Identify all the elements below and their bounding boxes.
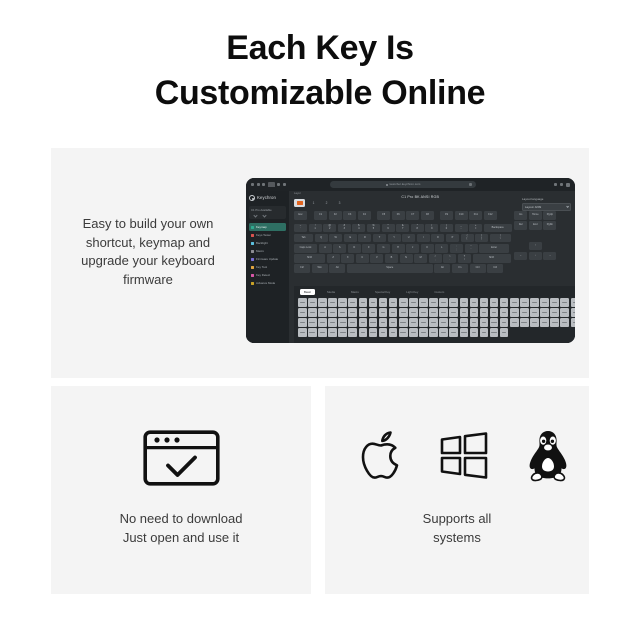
keycap[interactable]: @2 bbox=[323, 224, 336, 233]
palette-key[interactable] bbox=[369, 298, 378, 307]
sidebar-item-label: Keys Tester bbox=[256, 234, 271, 237]
palette-key[interactable] bbox=[429, 308, 438, 317]
palette-tab-media[interactable]: Media bbox=[323, 289, 339, 295]
palette-key[interactable] bbox=[409, 308, 418, 317]
palette-key[interactable] bbox=[490, 328, 499, 337]
palette-key[interactable] bbox=[429, 318, 438, 327]
layout-language-label: Layout language bbox=[522, 198, 571, 201]
palette-tab-custom[interactable]: Custom bbox=[430, 289, 448, 295]
keycap[interactable]: J bbox=[406, 244, 419, 253]
keycap[interactable]: G bbox=[377, 244, 390, 253]
keycap[interactable]: ^6 bbox=[382, 224, 395, 233]
palette-key[interactable] bbox=[500, 308, 509, 317]
sidebar-item-label: Advance Mode bbox=[256, 282, 275, 285]
palette-key[interactable] bbox=[298, 328, 307, 337]
browser-chrome: launcher.keychron.com bbox=[246, 178, 575, 191]
launcher-app: Keychron C1 Pro Available KeymapKeys Tes… bbox=[246, 191, 575, 343]
palette-key[interactable] bbox=[480, 298, 489, 307]
feature-caption-all-systems: Supports all systems bbox=[325, 509, 589, 547]
sidebar-item-key-detect[interactable]: Key Detect bbox=[249, 271, 286, 279]
keycap[interactable]: <, bbox=[429, 254, 442, 263]
browser-toolbar-right[interactable] bbox=[554, 183, 570, 187]
back-arrow-icon[interactable] bbox=[251, 183, 254, 186]
sidebar-item-label: Backlight bbox=[256, 242, 268, 245]
keycap[interactable]: F6 bbox=[392, 211, 405, 220]
sidebar-item-icon bbox=[251, 226, 254, 229]
layer-active-indicator bbox=[297, 201, 303, 205]
palette-key[interactable] bbox=[470, 318, 479, 327]
sidebar-item-label: Macro bbox=[256, 250, 264, 253]
palette-key[interactable] bbox=[298, 308, 307, 317]
palette-key[interactable] bbox=[399, 308, 408, 317]
tab-icon[interactable] bbox=[268, 182, 275, 187]
palette-key[interactable] bbox=[449, 308, 458, 317]
palette-key[interactable] bbox=[550, 308, 559, 317]
palette-key[interactable] bbox=[379, 328, 388, 337]
sidebar-item-label: Key Detect bbox=[256, 274, 270, 277]
sidebar-item-label: Key Tool bbox=[256, 266, 267, 269]
keycap[interactable]: #3 bbox=[338, 224, 351, 233]
palette-key[interactable] bbox=[429, 328, 438, 337]
keycap[interactable]: Fn bbox=[452, 264, 468, 273]
palette-key[interactable] bbox=[359, 318, 368, 327]
keycap-legend: "' bbox=[471, 246, 472, 252]
keycap[interactable]: O bbox=[431, 234, 444, 243]
keycap[interactable]: T bbox=[373, 234, 386, 243]
keyboard-row: TabQWERTYUIOP{[}]|\ bbox=[294, 234, 512, 243]
palette-key[interactable] bbox=[530, 318, 539, 327]
keycap[interactable]: Esc bbox=[294, 211, 307, 220]
sidebar-item-icon bbox=[251, 274, 254, 277]
sidebar-item-icon bbox=[251, 282, 254, 285]
device-nav-arrows[interactable] bbox=[251, 214, 284, 217]
sidebar-item-macro[interactable]: Macro bbox=[249, 247, 286, 255]
keyboard-row: ~`!1@2#3$4%5^6&7*8(9)0_-+=Backspace bbox=[294, 224, 512, 233]
palette-key[interactable] bbox=[540, 318, 549, 327]
keycap[interactable]: S bbox=[333, 244, 346, 253]
sidebar-nav: KeymapKeys TesterBacklightMacroFirmware … bbox=[249, 223, 286, 287]
palette-tab-basic[interactable]: Basic bbox=[300, 289, 315, 295]
sidebar-item-label: Keymap bbox=[256, 226, 267, 229]
palette-key[interactable] bbox=[348, 298, 357, 307]
keycap[interactable]: X bbox=[341, 254, 354, 263]
keycap[interactable]: F8 bbox=[421, 211, 434, 220]
palette-key[interactable] bbox=[439, 298, 448, 307]
palette-key[interactable] bbox=[318, 328, 327, 337]
keycap[interactable]: D bbox=[348, 244, 361, 253]
keyboard-row: EscF1F2F3F4F5F6F7F8F9F10F11F12 bbox=[294, 211, 512, 220]
keycap[interactable]: |\ bbox=[490, 234, 511, 243]
keycap[interactable]: E bbox=[344, 234, 357, 243]
os-logos-row bbox=[365, 430, 565, 486]
palette-key[interactable] bbox=[439, 308, 448, 317]
keycap-legend: ?/ bbox=[464, 256, 465, 262]
keycap[interactable]: H bbox=[392, 244, 405, 253]
layer-2-button[interactable]: 2 bbox=[322, 202, 331, 205]
palette-key[interactable] bbox=[318, 298, 327, 307]
palette-key[interactable] bbox=[318, 318, 327, 327]
layer-0-button[interactable] bbox=[294, 199, 305, 207]
palette-key[interactable] bbox=[379, 318, 388, 327]
palette-key[interactable] bbox=[449, 328, 458, 337]
palette-key[interactable] bbox=[520, 298, 529, 307]
palette-key[interactable] bbox=[490, 298, 499, 307]
keycap[interactable]: W bbox=[329, 234, 342, 243]
keycap-legend: &7 bbox=[402, 225, 404, 231]
keycap-legend: ~` bbox=[300, 225, 301, 231]
sidebar-item-icon bbox=[251, 250, 254, 253]
keycap[interactable]: F10 bbox=[455, 211, 468, 220]
layer-label: Layer bbox=[294, 193, 301, 196]
address-bar[interactable]: launcher.keychron.com bbox=[330, 181, 476, 188]
keycap-legend: <, bbox=[435, 256, 436, 262]
palette-key[interactable] bbox=[490, 308, 499, 317]
page-title-line-1: Each Key Is bbox=[226, 29, 414, 67]
keyboard-row: Caps LockASDFGHJKL:;"'Enter bbox=[294, 244, 512, 253]
browser-nav-controls[interactable] bbox=[251, 182, 286, 187]
sidebar-item-key-tool[interactable]: Key Tool bbox=[249, 263, 286, 271]
keycap-legend: #3 bbox=[344, 225, 345, 231]
palette-key[interactable] bbox=[389, 308, 398, 317]
keyboard-spacer bbox=[373, 211, 376, 220]
palette-key[interactable] bbox=[480, 308, 489, 317]
palette-key[interactable] bbox=[338, 328, 347, 337]
palette-key[interactable] bbox=[560, 298, 569, 307]
keycap[interactable]: &7 bbox=[396, 224, 409, 233]
palette-key[interactable] bbox=[348, 328, 357, 337]
page-title-line-2: Customizable Online bbox=[0, 71, 640, 116]
palette-key[interactable] bbox=[490, 318, 499, 327]
forward-arrow-icon[interactable] bbox=[257, 183, 260, 186]
new-tab-icon[interactable] bbox=[277, 183, 280, 186]
keycap[interactable]: F1 bbox=[314, 211, 327, 220]
keyboard-row: CtrlWinAltSpaceAltFnCtrlCtrl bbox=[294, 264, 512, 273]
palette-key[interactable] bbox=[449, 318, 458, 327]
keycap[interactable]: F12 bbox=[484, 211, 497, 220]
palette-key[interactable] bbox=[540, 308, 549, 317]
palette-key[interactable] bbox=[338, 318, 347, 327]
palette-key[interactable] bbox=[460, 308, 469, 317]
palette-key[interactable] bbox=[399, 298, 408, 307]
palette-key-grid[interactable] bbox=[298, 298, 571, 337]
page-title: Each Key Is Customizable Online bbox=[0, 26, 640, 116]
palette-key[interactable] bbox=[328, 318, 337, 327]
palette-key[interactable] bbox=[460, 318, 469, 327]
palette-key[interactable] bbox=[389, 318, 398, 327]
palette-key[interactable] bbox=[399, 318, 408, 327]
palette-key[interactable] bbox=[359, 308, 368, 317]
keycap-legend: _- bbox=[460, 225, 461, 231]
palette-key[interactable] bbox=[520, 318, 529, 327]
keycap[interactable]: $4 bbox=[352, 224, 365, 233]
keycap[interactable]: F5 bbox=[377, 211, 390, 220]
palette-row bbox=[298, 298, 571, 307]
keycap[interactable]: F3 bbox=[343, 211, 356, 220]
palette-key[interactable] bbox=[359, 298, 368, 307]
palette-key[interactable] bbox=[470, 308, 479, 317]
keycap[interactable]: *8 bbox=[411, 224, 424, 233]
palette-key[interactable] bbox=[480, 328, 489, 337]
palette-tab-macro[interactable]: Macro bbox=[347, 289, 363, 295]
palette-key[interactable] bbox=[328, 298, 337, 307]
palette-row bbox=[298, 328, 571, 337]
palette-row bbox=[298, 318, 571, 327]
keycap[interactable]: F2 bbox=[329, 211, 342, 220]
device-name: C1 Pro Available bbox=[251, 209, 284, 212]
reload-icon[interactable] bbox=[262, 183, 265, 186]
bookmark-star-icon[interactable] bbox=[469, 183, 472, 186]
palette-key[interactable] bbox=[409, 328, 418, 337]
keycap[interactable]: Ctrl bbox=[487, 264, 503, 273]
sidebar-item-icon bbox=[251, 234, 254, 237]
keycap[interactable]: ~` bbox=[294, 224, 307, 233]
keycap[interactable]: !1 bbox=[309, 224, 322, 233]
keychron-logo-icon bbox=[249, 195, 255, 201]
keycap[interactable]: += bbox=[469, 224, 482, 233]
chevron-down-icon bbox=[566, 205, 569, 208]
keycap[interactable]: Space bbox=[347, 264, 433, 273]
palette-row bbox=[298, 308, 571, 317]
palette-key[interactable] bbox=[419, 318, 428, 327]
keycap[interactable]: Win bbox=[312, 264, 328, 273]
apple-logo-icon bbox=[359, 430, 403, 487]
palette-key[interactable] bbox=[389, 298, 398, 307]
chevron-right-icon[interactable] bbox=[262, 213, 266, 217]
layer-3-button[interactable]: 3 bbox=[335, 202, 344, 205]
keycap-legend: )0 bbox=[446, 225, 447, 231]
palette-key[interactable] bbox=[460, 328, 469, 337]
palette-key[interactable] bbox=[328, 308, 337, 317]
keycap[interactable]: Enter bbox=[479, 244, 509, 253]
palette-key[interactable] bbox=[338, 298, 347, 307]
palette-key[interactable] bbox=[500, 318, 509, 327]
palette-key[interactable] bbox=[379, 298, 388, 307]
keycap[interactable]: F9 bbox=[440, 211, 453, 220]
sidebar-item-icon bbox=[251, 266, 254, 269]
keycap[interactable]: Ctrl bbox=[470, 264, 486, 273]
keyboard-spacer bbox=[309, 211, 313, 220]
palette-key[interactable] bbox=[500, 328, 509, 337]
sidebar-item-firmware-update[interactable]: Firmware Update bbox=[249, 255, 286, 263]
linux-penguin-icon bbox=[525, 429, 571, 488]
keycap-legend: !1 bbox=[314, 225, 315, 231]
chevron-left-icon[interactable] bbox=[253, 213, 257, 217]
keycap[interactable]: )0 bbox=[440, 224, 453, 233]
palette-key[interactable] bbox=[379, 308, 388, 317]
keycap[interactable]: A bbox=[319, 244, 332, 253]
palette-tabs[interactable]: BasicMediaMacroSpecial KeyLight KeyCusto… bbox=[298, 289, 571, 295]
palette-key[interactable] bbox=[348, 318, 357, 327]
keycap[interactable]: F7 bbox=[406, 211, 419, 220]
windows-logo-icon bbox=[439, 432, 489, 485]
palette-key[interactable] bbox=[399, 328, 408, 337]
keycap[interactable]: I bbox=[417, 234, 430, 243]
palette-key[interactable] bbox=[571, 298, 575, 307]
keycap[interactable]: N bbox=[400, 254, 413, 263]
keycap-legend: += bbox=[475, 225, 476, 231]
palette-key[interactable] bbox=[419, 298, 428, 307]
palette-key[interactable] bbox=[369, 328, 378, 337]
keycap[interactable]: K bbox=[421, 244, 434, 253]
sidebar-item-label: Firmware Update bbox=[256, 258, 278, 261]
keycap[interactable]: F4 bbox=[358, 211, 371, 220]
palette-key[interactable] bbox=[530, 298, 539, 307]
palette-key[interactable] bbox=[510, 318, 519, 327]
sidebar-item-icon bbox=[251, 242, 254, 245]
palette-key[interactable] bbox=[308, 328, 317, 337]
keycap-legend: >. bbox=[449, 256, 450, 262]
palette-key[interactable] bbox=[520, 308, 529, 317]
keycap[interactable]: }] bbox=[475, 234, 488, 243]
keycap[interactable]: B bbox=[385, 254, 398, 263]
keycap[interactable]: F bbox=[362, 244, 375, 253]
palette-key[interactable] bbox=[560, 308, 569, 317]
keycap[interactable]: Z bbox=[327, 254, 340, 263]
keycap-legend: (9 bbox=[431, 225, 432, 231]
keycap[interactable]: _- bbox=[455, 224, 468, 233]
keycap[interactable]: C bbox=[356, 254, 369, 263]
keycap[interactable]: Ctrl bbox=[294, 264, 310, 273]
palette-key[interactable] bbox=[409, 318, 418, 327]
palette-key[interactable] bbox=[308, 318, 317, 327]
layer-1-button[interactable]: 1 bbox=[309, 202, 318, 205]
palette-key[interactable] bbox=[389, 328, 398, 337]
keyboard-main-block[interactable]: EscF1F2F3F4F5F6F7F8F9F10F11F12~`!1@2#3$4… bbox=[294, 211, 512, 273]
keycap[interactable]: U bbox=[402, 234, 415, 243]
feature-card-all-systems bbox=[325, 386, 589, 594]
key-palette: BasicMediaMacroSpecial KeyLight KeyCusto… bbox=[294, 286, 575, 343]
layout-language-select[interactable]: Layout: ANSI bbox=[522, 203, 571, 211]
palette-key[interactable] bbox=[530, 308, 539, 317]
browser-mockup: launcher.keychron.com Keychron C1 Pro Av… bbox=[246, 178, 575, 343]
layout-language-value: Layout: ANSI bbox=[525, 205, 541, 209]
keyboard-model-title: C1 Pro BK ANSI RGB bbox=[401, 196, 439, 200]
promo-page: Each Key Is Customizable Online Easy to … bbox=[0, 0, 640, 640]
keyboard-visual[interactable]: EscF1F2F3F4F5F6F7F8F9F10F11F12~`!1@2#3$4… bbox=[294, 211, 515, 273]
palette-key[interactable] bbox=[571, 318, 575, 327]
palette-key[interactable] bbox=[510, 298, 519, 307]
keycap[interactable]: R bbox=[358, 234, 371, 243]
keycap-legend: %5 bbox=[372, 225, 374, 231]
app-sidebar: Keychron C1 Pro Available KeymapKeys Tes… bbox=[246, 191, 289, 343]
palette-key[interactable] bbox=[571, 308, 575, 317]
keycap[interactable]: V bbox=[370, 254, 383, 263]
brand-name: Keychron bbox=[257, 196, 276, 200]
palette-key[interactable] bbox=[359, 328, 368, 337]
palette-key[interactable] bbox=[308, 298, 317, 307]
keycap[interactable]: P bbox=[446, 234, 459, 243]
palette-key[interactable] bbox=[480, 318, 489, 327]
palette-key[interactable] bbox=[419, 328, 428, 337]
palette-key[interactable] bbox=[308, 308, 317, 317]
keycap-legend: *8 bbox=[417, 225, 418, 231]
keycap[interactable]: ?/ bbox=[458, 254, 471, 263]
keycap[interactable]: Alt bbox=[434, 264, 450, 273]
keycap[interactable]: {[ bbox=[461, 234, 474, 243]
palette-tab-special-key[interactable]: Special Key bbox=[371, 289, 394, 295]
palette-key[interactable] bbox=[439, 318, 448, 327]
palette-key[interactable] bbox=[298, 298, 307, 307]
palette-key[interactable] bbox=[500, 298, 509, 307]
browser-window-check-icon bbox=[143, 430, 220, 491]
keycap[interactable]: Shift bbox=[473, 254, 511, 263]
profile-icon[interactable] bbox=[566, 183, 570, 187]
keycap[interactable]: %5 bbox=[367, 224, 380, 233]
palette-tab-light-key[interactable]: Light Key bbox=[402, 289, 422, 295]
lock-icon bbox=[386, 184, 388, 186]
keycap[interactable]: Caps Lock bbox=[294, 244, 317, 253]
palette-key[interactable] bbox=[510, 308, 519, 317]
keycap-legend: |\ bbox=[500, 235, 501, 241]
palette-key[interactable] bbox=[449, 298, 458, 307]
device-selector[interactable]: C1 Pro Available bbox=[249, 206, 286, 219]
keycap[interactable]: Alt bbox=[329, 264, 345, 273]
home-icon[interactable] bbox=[554, 183, 557, 186]
keycap[interactable]: F11 bbox=[469, 211, 482, 220]
palette-key[interactable] bbox=[560, 318, 569, 327]
palette-key[interactable] bbox=[540, 298, 549, 307]
keycap-legend: $4 bbox=[358, 225, 359, 231]
keycap-legend: :; bbox=[456, 246, 457, 252]
keycap-legend: ^6 bbox=[387, 225, 388, 231]
tab-overflow-icon[interactable] bbox=[283, 183, 286, 186]
sidebar-item-keys-tester[interactable]: Keys Tester bbox=[249, 231, 286, 239]
keycap[interactable]: :; bbox=[450, 244, 463, 253]
sidebar-item-backlight[interactable]: Backlight bbox=[249, 239, 286, 247]
palette-key[interactable] bbox=[470, 328, 479, 337]
keycap[interactable]: L bbox=[435, 244, 448, 253]
address-bar-url: launcher.keychron.com bbox=[390, 183, 421, 186]
keycap[interactable]: Shift bbox=[294, 254, 325, 263]
brand-logo: Keychron bbox=[249, 195, 286, 201]
sidebar-item-keymap[interactable]: Keymap bbox=[249, 223, 286, 231]
keycap[interactable]: Q bbox=[315, 234, 328, 243]
palette-key[interactable] bbox=[439, 328, 448, 337]
keycap[interactable]: M bbox=[414, 254, 427, 263]
sidebar-item-icon bbox=[251, 258, 254, 261]
palette-key[interactable] bbox=[550, 318, 559, 327]
keycap[interactable]: Tab bbox=[294, 234, 313, 243]
palette-key[interactable] bbox=[369, 308, 378, 317]
extensions-icon[interactable] bbox=[560, 183, 563, 186]
palette-key[interactable] bbox=[460, 298, 469, 307]
palette-key[interactable] bbox=[348, 308, 357, 317]
feature-card-text: Easy to build your own shortcut, keymap … bbox=[62, 215, 234, 289]
keycap-legend: @2 bbox=[328, 225, 331, 231]
sidebar-item-advance-mode[interactable]: Advance Mode bbox=[249, 279, 286, 287]
palette-key[interactable] bbox=[409, 298, 418, 307]
palette-key[interactable] bbox=[429, 298, 438, 307]
keycap[interactable]: >. bbox=[443, 254, 456, 263]
keycap-legend: {[ bbox=[467, 235, 468, 241]
palette-key[interactable] bbox=[419, 308, 428, 317]
palette-key[interactable] bbox=[550, 298, 559, 307]
keycap-legend: }] bbox=[481, 235, 482, 241]
palette-key[interactable] bbox=[318, 308, 327, 317]
keyboard-spacer bbox=[436, 211, 439, 220]
feature-caption-no-download: No need to download Just open and use it bbox=[51, 509, 311, 547]
keyboard-row: ShiftZXCVBNM<,>.?/Shift bbox=[294, 254, 512, 263]
palette-key[interactable] bbox=[369, 318, 378, 327]
palette-key[interactable] bbox=[328, 328, 337, 337]
palette-key[interactable] bbox=[298, 318, 307, 327]
keycap[interactable]: "' bbox=[465, 244, 478, 253]
palette-key[interactable] bbox=[470, 298, 479, 307]
keycap[interactable]: Backspace bbox=[484, 224, 512, 233]
keycap[interactable]: Y bbox=[388, 234, 401, 243]
palette-key[interactable] bbox=[338, 308, 347, 317]
keycap[interactable]: (9 bbox=[425, 224, 438, 233]
